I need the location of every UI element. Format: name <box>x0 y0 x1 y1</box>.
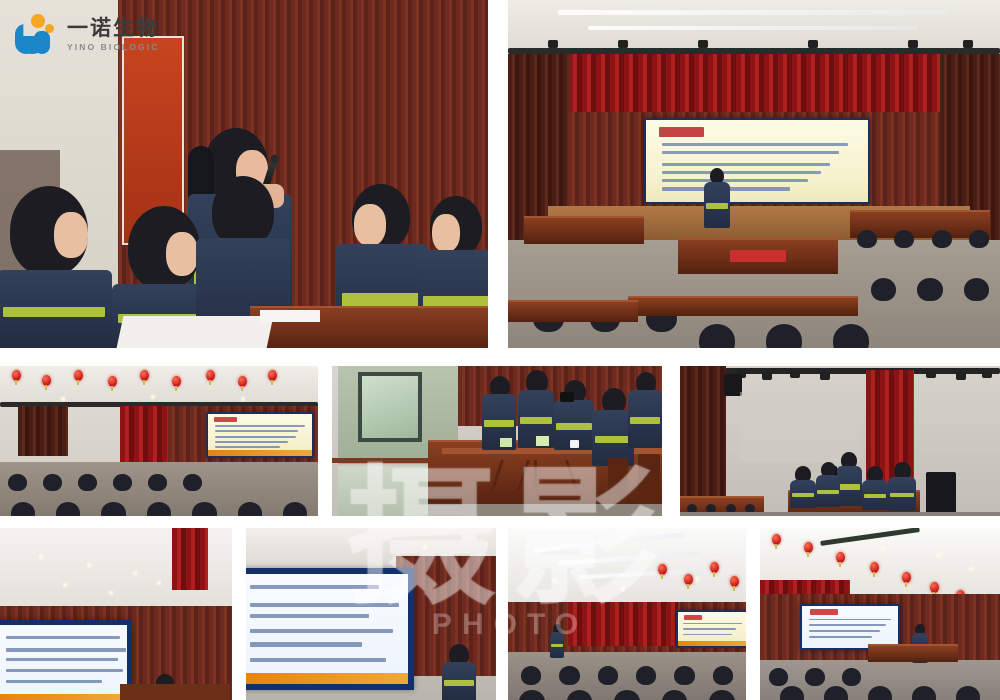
attendee <box>816 462 840 506</box>
attendee <box>0 186 114 348</box>
yino-biologic-logo-icon <box>14 14 58 56</box>
photo-4[interactable] <box>332 366 662 516</box>
audience-row <box>520 240 690 304</box>
projection-screen <box>206 412 314 458</box>
photo-gallery: 摄影 PHOTO 一诺生物 YINO BIOLOGIC <box>0 0 1000 700</box>
photo-7[interactable] <box>246 528 496 700</box>
audience-row <box>682 470 760 504</box>
photo-3[interactable] <box>0 366 318 516</box>
audience-row-foreground <box>508 668 746 700</box>
attendee <box>628 372 662 442</box>
photo-8[interactable] <box>508 528 746 700</box>
brand-name-en: YINO BIOLOGIC <box>67 43 159 52</box>
projection-screen <box>0 620 132 700</box>
brand-logo: 一诺生物 YINO BIOLOGIC <box>14 14 159 56</box>
projection-screen <box>644 118 870 204</box>
attendee <box>888 462 916 510</box>
photo-6[interactable] <box>0 528 232 700</box>
presenter <box>704 168 730 228</box>
attendee <box>862 466 888 508</box>
photo-9[interactable] <box>760 528 1000 700</box>
photo-5[interactable] <box>680 366 1000 516</box>
audience-row <box>854 262 1000 348</box>
audience-row-foreground <box>760 670 1000 700</box>
attendee <box>518 370 554 442</box>
photo-2[interactable] <box>508 0 1000 348</box>
audience-row-foreground <box>0 470 318 516</box>
audience-row-foreground <box>246 660 496 700</box>
brand-name-cn: 一诺生物 <box>67 18 159 39</box>
attendee <box>790 466 816 506</box>
attendee <box>482 376 516 442</box>
loudspeaker <box>926 472 956 516</box>
attendee-with-camera <box>554 380 594 442</box>
